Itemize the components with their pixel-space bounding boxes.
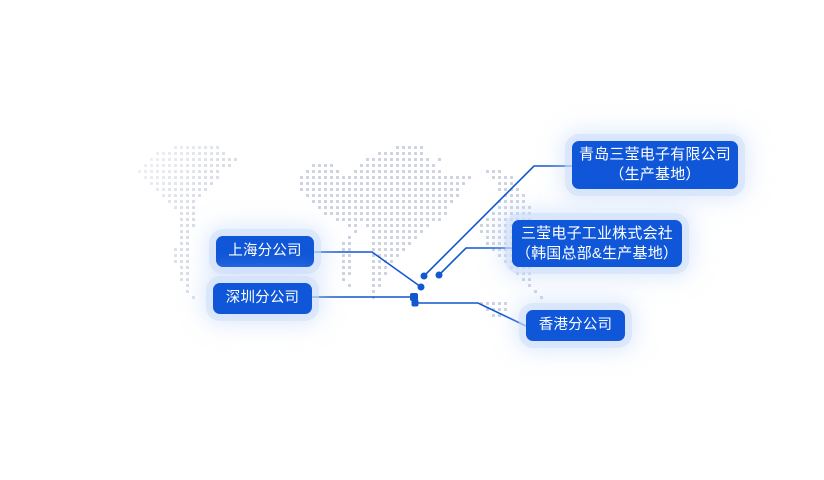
label-hongkong[interactable]: 香港分公司 xyxy=(526,310,625,341)
world-map-branch-diagram: 青岛三莹电子有限公司（生产基地）三莹电子工业株式会社（韩国总部&生产基地）上海分… xyxy=(0,0,824,480)
label-korea-hq-line-1: 三莹电子工业株式会社 xyxy=(521,224,673,244)
label-shenzhen-line-1: 深圳分公司 xyxy=(226,289,300,308)
label-qingdao-line-2: （生产基地） xyxy=(609,165,700,185)
map-marker-hongkong[interactable] xyxy=(412,300,419,307)
label-shanghai[interactable]: 上海分公司 xyxy=(216,236,314,267)
label-shanghai-line-1: 上海分公司 xyxy=(228,242,302,261)
label-korea-hq[interactable]: 三莹电子工业株式会社（韩国总部&生产基地） xyxy=(512,220,682,267)
label-hongkong-line-1: 香港分公司 xyxy=(539,316,613,335)
map-marker-korea[interactable] xyxy=(436,272,443,279)
label-qingdao-line-1: 青岛三莹电子有限公司 xyxy=(579,145,731,165)
label-korea-hq-line-2: （韩国总部&生产基地） xyxy=(516,244,678,264)
label-qingdao[interactable]: 青岛三莹电子有限公司（生产基地） xyxy=(572,141,738,189)
label-shenzhen[interactable]: 深圳分公司 xyxy=(213,283,312,314)
map-marker-qingdao[interactable] xyxy=(421,273,428,280)
world-map-dots xyxy=(0,0,824,480)
map-marker-shanghai[interactable] xyxy=(418,284,425,291)
